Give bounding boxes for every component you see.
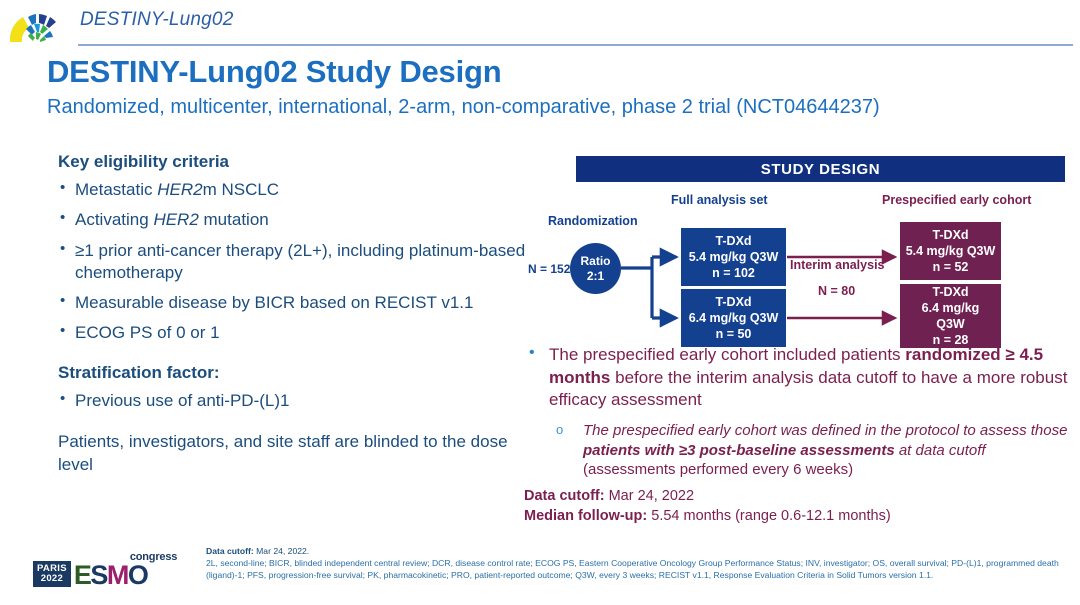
arm-dose-line-2: Q3W	[936, 316, 964, 332]
arm-n: n = 102	[712, 265, 755, 281]
arm-box-pec-2: T-DXd 6.4 mg/kg Q3W n = 28	[900, 284, 1001, 348]
footnote-cutoff-value: Mar 24, 2022.	[254, 546, 309, 556]
label-randomization: Randomization	[548, 214, 638, 228]
page-subtitle: Randomized, multicenter, international, …	[47, 96, 880, 119]
stratification-list: Previous use of anti-PD-(L)1	[58, 390, 538, 412]
arm-box-fas-2: T-DXd 6.4 mg/kg Q3W n = 50	[681, 289, 786, 347]
page-title: DESTINY-Lung02 Study Design	[47, 54, 501, 90]
esmo-letter-m: M	[107, 564, 128, 587]
arm-n: n = 52	[933, 259, 969, 275]
label-interim-n: N = 80	[818, 284, 855, 298]
eligibility-item-0-text: Metastatic HER2m NSCLC	[75, 180, 279, 199]
esmo-paris-badge: PARIS 2022	[33, 561, 71, 587]
eligibility-item-4-text: ECOG PS of 0 or 1	[75, 323, 220, 342]
stratification-item-0-text: Previous use of anti-PD-(L)1	[75, 391, 289, 410]
arm-n: n = 50	[716, 326, 752, 342]
data-cutoff-line: Data cutoff: Mar 24, 2022	[524, 486, 1076, 506]
eligibility-item-3-text: Measurable disease by BICR based on RECI…	[75, 293, 473, 312]
esmo-letter-o: O	[128, 564, 148, 587]
left-content-column: Key eligibility criteria Metastatic HER2…	[58, 152, 538, 476]
stratification-heading: Stratification factor:	[58, 363, 538, 383]
esmo-wordmark: ESMO congress	[74, 564, 148, 587]
footnote-data-cutoff: Data cutoff: Mar 24, 2022.	[206, 545, 1074, 557]
subbullet-part2: at data cutoff	[895, 442, 986, 459]
arm-drug: T-DXd	[715, 233, 751, 249]
esmo-congress-word: congress	[130, 553, 177, 562]
median-followup-line: Median follow-up: 5.54 months (range 0.6…	[524, 506, 1076, 526]
arm-dose: 6.4 mg/kg Q3W	[689, 310, 779, 326]
list-item: Measurable disease by BICR based on RECI…	[58, 292, 538, 314]
study-design-panel-title: STUDY DESIGN	[576, 156, 1065, 182]
early-cohort-subbullet: The prespecified early cohort was define…	[554, 421, 1076, 480]
arm-drug: T-DXd	[715, 294, 751, 310]
footnote-abbreviations: 2L, second-line; BICR, blinded independe…	[206, 557, 1074, 581]
list-item: Previous use of anti-PD-(L)1	[58, 390, 538, 412]
footnotes: Data cutoff: Mar 24, 2022. 2L, second-li…	[206, 545, 1074, 582]
blinding-note: Patients, investigators, and site staff …	[58, 431, 538, 475]
randomization-ratio-circle: Ratio 2:1	[570, 243, 621, 294]
esmo-letter-e: E	[74, 564, 91, 587]
arm-drug: T-DXd	[932, 284, 968, 300]
right-content-column: The prespecified early cohort included p…	[524, 344, 1076, 526]
footnote-cutoff-label: Data cutoff:	[206, 546, 254, 556]
esmo-fan-logo-icon	[6, 4, 68, 44]
label-n-total: N = 152	[528, 262, 570, 276]
early-cohort-bullet: The prespecified early cohort included p…	[524, 344, 1076, 412]
arm-dose-line-1: 6.4 mg/kg	[922, 300, 980, 316]
subbullet-bold: patients with ≥3 post-baseline assessmen…	[583, 442, 895, 459]
list-item: ECOG PS of 0 or 1	[58, 322, 538, 344]
early-cohort-part1: The prespecified early cohort included p…	[549, 345, 905, 364]
median-followup-value: 5.54 months (range 0.6-12.1 months)	[647, 508, 890, 524]
list-item: Metastatic HER2m NSCLC	[58, 179, 538, 201]
arm-dose: 5.4 mg/kg Q3W	[689, 249, 779, 265]
esmo-letter-s: S	[90, 564, 107, 587]
label-full-analysis-set: Full analysis set	[671, 193, 768, 207]
header-divider	[78, 44, 1073, 46]
eligibility-item-1-text: Activating HER2 mutation	[75, 210, 269, 229]
header-study-name: DESTINY-Lung02	[80, 9, 233, 31]
eligibility-item-2-text: ≥1 prior anti-cancer therapy (2L+), incl…	[75, 241, 525, 282]
ratio-line-2: 2:1	[587, 269, 604, 283]
arm-drug: T-DXd	[932, 227, 968, 243]
label-prespecified-early-cohort: Prespecified early cohort	[882, 193, 1031, 207]
subbullet-part1: The prespecified early cohort was define…	[583, 422, 1067, 439]
esmo-year: 2022	[37, 574, 67, 584]
eligibility-heading: Key eligibility criteria	[58, 152, 538, 172]
subbullet-part3: (assessments performed every 6 weeks)	[583, 461, 853, 478]
arm-box-fas-1: T-DXd 5.4 mg/kg Q3W n = 102	[681, 228, 786, 286]
esmo-congress-logo: PARIS 2022 ESMO congress	[33, 553, 147, 587]
label-interim-analysis: Interim analysis	[790, 258, 885, 272]
arm-dose: 5.4 mg/kg Q3W	[906, 243, 996, 259]
data-cutoff-value: Mar 24, 2022	[605, 488, 694, 504]
arm-box-pec-1: T-DXd 5.4 mg/kg Q3W n = 52	[900, 222, 1001, 280]
early-cohort-part2: before the interim analysis data cutoff …	[549, 368, 1067, 410]
list-item: ≥1 prior anti-cancer therapy (2L+), incl…	[58, 240, 538, 284]
median-followup-label: Median follow-up:	[524, 508, 647, 524]
eligibility-list: Metastatic HER2m NSCLC Activating HER2 m…	[58, 179, 538, 344]
spacer	[58, 352, 538, 363]
ratio-line-1: Ratio	[581, 254, 611, 268]
data-cutoff-label: Data cutoff:	[524, 488, 605, 504]
spacer	[58, 420, 538, 431]
list-item: Activating HER2 mutation	[58, 209, 538, 231]
